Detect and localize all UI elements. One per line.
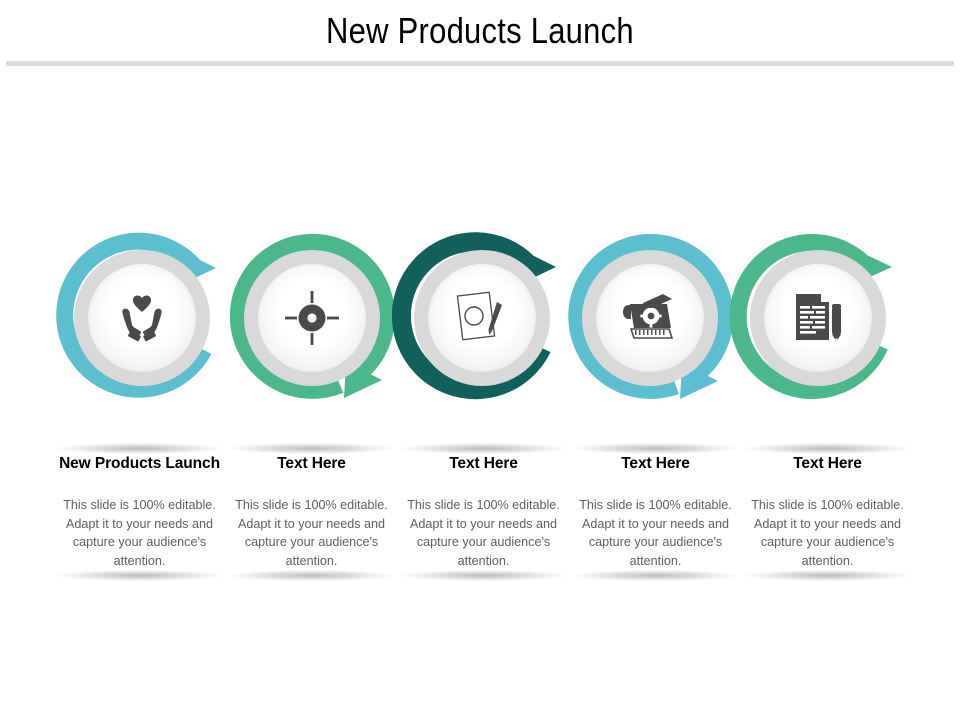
caption-body-2: This slide is 100% editable. Adapt it to… (224, 496, 399, 570)
process-step-2[interactable] (222, 228, 402, 408)
caption-body-3: This slide is 100% editable. Adapt it to… (396, 496, 571, 570)
card-shadow-top (229, 443, 394, 454)
card-shadow-top (745, 443, 910, 454)
card-shadow-bottom (745, 570, 910, 581)
captions-row: New Products Launch This slide is 100% e… (52, 440, 922, 585)
caption-body-4: This slide is 100% editable. Adapt it to… (568, 496, 743, 570)
hands-holding-heart-icon (88, 264, 196, 372)
card-shadow-top (57, 443, 222, 454)
card-shadow-top (401, 443, 566, 454)
slide-canvas: New Products Launch (0, 0, 960, 720)
caption-heading-3: Text Here (396, 454, 571, 473)
caption-heading-5: Text Here (740, 454, 915, 473)
caption-body-1: This slide is 100% editable. Adapt it to… (52, 496, 227, 570)
process-step-4[interactable] (560, 228, 740, 408)
caption-heading-2: Text Here (224, 454, 399, 473)
card-shadow-bottom (401, 570, 566, 581)
caption-card-5[interactable]: Text Here This slide is 100% editable. A… (740, 440, 915, 582)
target-crosshair-icon (258, 264, 366, 372)
page-title: New Products Launch (326, 10, 634, 52)
caption-card-2[interactable]: Text Here This slide is 100% editable. A… (224, 440, 399, 582)
title-divider (6, 61, 954, 66)
card-shadow-top (573, 443, 738, 454)
process-step-3[interactable] (392, 228, 572, 408)
process-circles-row (52, 228, 908, 408)
process-step-1[interactable] (52, 228, 232, 408)
card-shadow-bottom (57, 570, 222, 581)
caption-heading-1: New Products Launch (52, 454, 227, 473)
document-magnifier-pen-icon (428, 264, 536, 372)
card-shadow-bottom (229, 570, 394, 581)
caption-card-1[interactable]: New Products Launch This slide is 100% e… (52, 440, 227, 582)
caption-heading-4: Text Here (568, 454, 743, 473)
process-step-5[interactable] (728, 228, 908, 408)
blueprint-gear-pencil-ruler-icon (596, 264, 704, 372)
caption-card-4[interactable]: Text Here This slide is 100% editable. A… (568, 440, 743, 582)
card-shadow-bottom (573, 570, 738, 581)
caption-body-5: This slide is 100% editable. Adapt it to… (740, 496, 915, 570)
caption-card-3[interactable]: Text Here This slide is 100% editable. A… (396, 440, 571, 582)
document-pencil-icon (764, 264, 872, 372)
slide-title-bar: New Products Launch (0, 0, 960, 62)
